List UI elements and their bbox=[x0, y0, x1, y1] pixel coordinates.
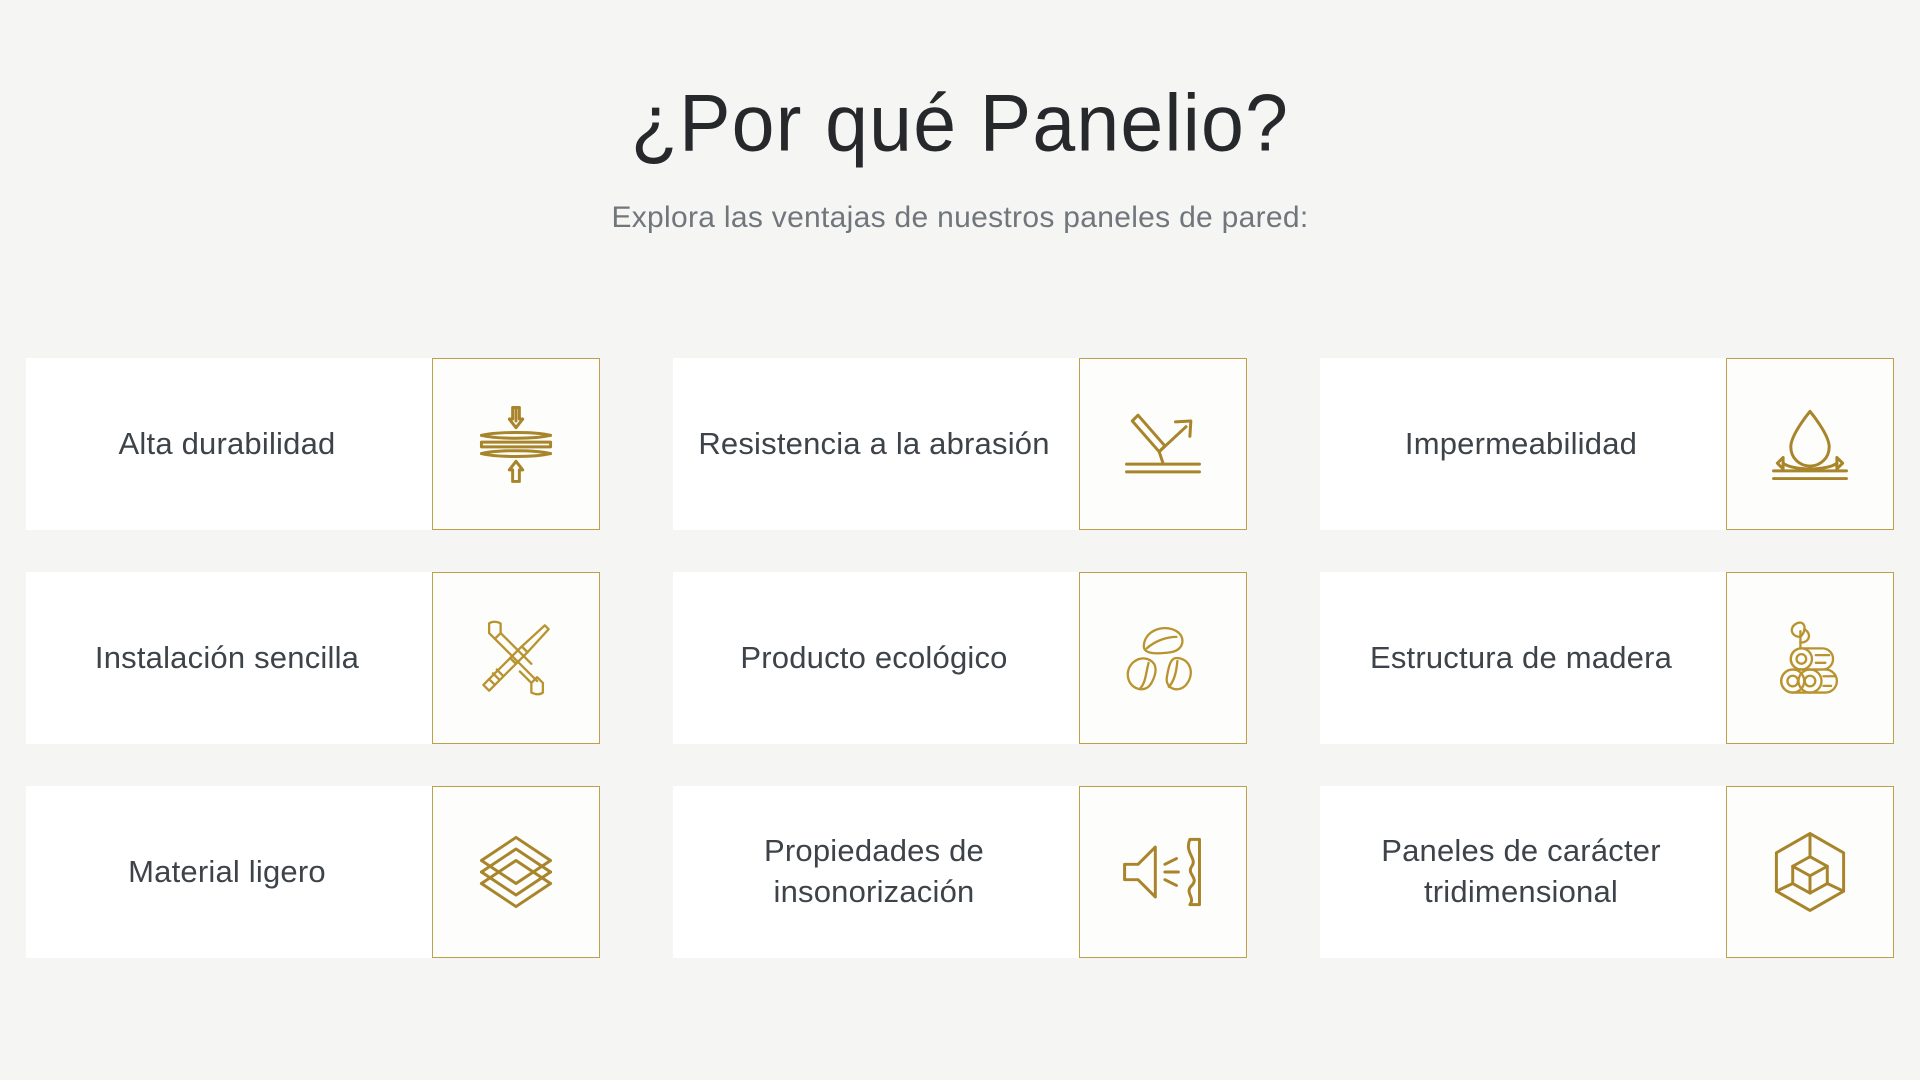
benefit-card[interactable]: Propiedades de insonorización bbox=[673, 786, 1247, 958]
page-title: ¿Por qué Panelio? bbox=[0, 78, 1920, 169]
benefit-card[interactable]: Instalación sencilla bbox=[26, 572, 600, 744]
water-droplet-repellent-icon bbox=[1762, 396, 1858, 492]
abrasion-resistance-icon bbox=[1115, 396, 1211, 492]
benefit-icon-box bbox=[1726, 358, 1894, 530]
benefit-label: Propiedades de insonorización bbox=[673, 831, 1079, 913]
benefit-icon-box bbox=[1079, 358, 1247, 530]
benefit-icon-box bbox=[1726, 572, 1894, 744]
compression-durability-icon bbox=[468, 396, 564, 492]
benefit-card[interactable]: Estructura de madera bbox=[1320, 572, 1894, 744]
benefit-icon-box bbox=[432, 786, 600, 958]
benefit-label: Producto ecológico bbox=[673, 638, 1079, 679]
wrench-screwdriver-icon bbox=[468, 610, 564, 706]
benefit-card[interactable]: Impermeabilidad bbox=[1320, 358, 1894, 530]
hexagon-3d-cube-icon bbox=[1762, 824, 1858, 920]
recycling-leaves-icon bbox=[1115, 610, 1211, 706]
benefit-icon-box bbox=[1079, 572, 1247, 744]
benefit-label: Estructura de madera bbox=[1320, 638, 1726, 679]
benefit-label: Resistencia a la abrasión bbox=[673, 424, 1079, 465]
benefit-label: Paneles de carácter tridimensional bbox=[1320, 831, 1726, 913]
benefit-card[interactable]: Material ligero bbox=[26, 786, 600, 958]
benefit-icon-box bbox=[1079, 786, 1247, 958]
benefit-label: Material ligero bbox=[26, 852, 432, 893]
benefit-icon-box bbox=[1726, 786, 1894, 958]
speaker-acoustic-panel-icon bbox=[1115, 824, 1211, 920]
benefit-card[interactable]: Producto ecológico bbox=[673, 572, 1247, 744]
benefit-icon-box bbox=[432, 358, 600, 530]
benefit-card[interactable]: Resistencia a la abrasión bbox=[673, 358, 1247, 530]
section-header: ¿Por qué Panelio? Explora las ventajas d… bbox=[0, 0, 1920, 236]
wood-logs-icon bbox=[1762, 610, 1858, 706]
benefit-icon-box bbox=[432, 572, 600, 744]
page-subtitle: Explora las ventajas de nuestros paneles… bbox=[0, 200, 1920, 236]
stacked-layers-icon bbox=[468, 824, 564, 920]
benefits-grid: Alta durabilidad bbox=[26, 358, 1894, 958]
why-panelio-section: ¿Por qué Panelio? Explora las ventajas d… bbox=[0, 0, 1920, 1080]
benefit-label: Impermeabilidad bbox=[1320, 424, 1726, 465]
benefit-label: Alta durabilidad bbox=[26, 424, 432, 465]
benefit-card[interactable]: Paneles de carácter tridimensional bbox=[1320, 786, 1894, 958]
benefit-card[interactable]: Alta durabilidad bbox=[26, 358, 600, 530]
benefit-label: Instalación sencilla bbox=[26, 638, 432, 679]
